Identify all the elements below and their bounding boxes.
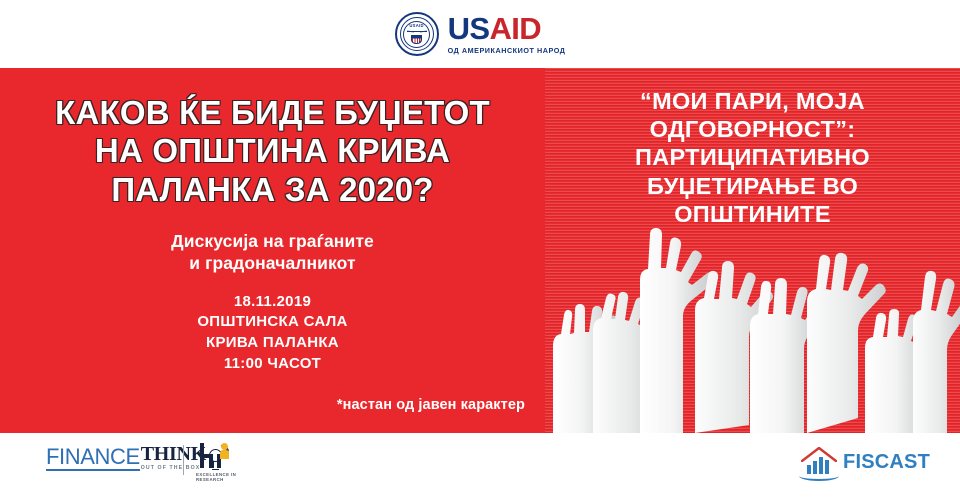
slogan-line-1: “МОИ ПАРИ, МОЈА <box>555 87 950 115</box>
headline-line-3: ПАЛАНКА ЗА 2020? <box>55 171 490 209</box>
subheadline-line-1: Дискусија на граѓаните <box>171 230 374 252</box>
campaign-slogan: “МОИ ПАРИ, МОЈА ОДГОВОРНОСТ”: ПАРТИЦИПАТ… <box>545 87 960 228</box>
event-footnote: *настан од јавен карактер <box>337 397 525 413</box>
fiscast-text: FISCAST <box>843 451 930 474</box>
swoosh-icon <box>799 471 839 481</box>
hr-mark-icon <box>196 443 258 469</box>
event-city: КРИВА ПАЛАНКА <box>197 333 347 354</box>
usaid-logo: USAID USAID ОД АМЕРИКАНСКИОТ НАРОД <box>395 12 566 56</box>
event-venue: ОПШТИНСКА САЛА <box>197 312 347 333</box>
headline-line-1: КАКОВ ЌЕ БИДЕ БУЏЕТОТ <box>55 94 490 132</box>
usaid-seal-icon: USAID <box>395 12 439 56</box>
usaid-us-text: US <box>448 11 490 46</box>
seal-wordmark: USAID <box>409 24 424 28</box>
slogan-line-2: ОДГОВОРНОСТ”: <box>555 115 950 143</box>
poster-footer: FINANCE THINK OUT OF THE BOX <box>0 433 960 499</box>
poster-headline: КАКОВ ЌЕ БИДЕ БУЏЕТОТ НА ОПШТИНА КРИВА П… <box>43 94 502 209</box>
shield-icon <box>411 35 422 44</box>
hr-logo: EXCELLENCE IN RESEARCH <box>196 443 258 482</box>
right-panel: “МОИ ПАРИ, МОЈА ОДГОВОРНОСТ”: ПАРТИЦИПАТ… <box>545 68 960 433</box>
left-content: КАКОВ ЌЕ БИДЕ БУЏЕТОТ НА ОПШТИНА КРИВА П… <box>0 68 545 433</box>
usaid-word: USAID <box>448 13 566 44</box>
poster-header: USAID USAID ОД АМЕРИКАНСКИОТ НАРОД <box>0 0 960 68</box>
event-date: 18.11.2019 <box>197 292 347 313</box>
raised-hands-illustration <box>545 218 960 433</box>
slogan-line-5: ОПШТИНИТЕ <box>555 200 950 228</box>
left-panel: КАКОВ ЌЕ БИДЕ БУЏЕТОТ НА ОПШТИНА КРИВА П… <box>0 68 545 433</box>
event-details: 18.11.2019 ОПШТИНСКА САЛА КРИВА ПАЛАНКА … <box>197 292 347 375</box>
finance-text: FINANCE <box>46 445 140 471</box>
poster-subheadline: Дискусија на граѓаните и градоначалникот <box>171 230 374 275</box>
eagle-icon <box>407 30 427 34</box>
slogan-line-3: ПАРТИЦИПАТИВНО <box>555 143 950 171</box>
logo-divider <box>183 445 184 475</box>
usaid-aid-text: AID <box>489 11 541 46</box>
slogan-line-4: БУЏЕТИРАЊЕ ВО <box>555 172 950 200</box>
subheadline-line-2: и градоначалникот <box>171 252 374 274</box>
poster-canvas: USAID USAID ОД АМЕРИКАНСКИОТ НАРОД “МОИ … <box>0 0 960 499</box>
headline-line-2: НА ОПШТИНА КРИВА <box>55 132 490 170</box>
finance-think-tagline: OUT OF THE BOX <box>141 465 201 471</box>
fiscast-mark-icon <box>796 446 840 478</box>
seal-inner: USAID <box>403 21 430 48</box>
hr-tagline: EXCELLENCE IN RESEARCH <box>196 472 258 482</box>
usaid-wordmark: USAID ОД АМЕРИКАНСКИОТ НАРОД <box>448 13 566 54</box>
event-time: 11:00 ЧАСОТ <box>197 354 347 375</box>
usaid-tagline: ОД АМЕРИКАНСКИОТ НАРОД <box>448 47 566 54</box>
main-band: “МОИ ПАРИ, МОЈА ОДГОВОРНОСТ”: ПАРТИЦИПАТ… <box>0 68 960 433</box>
fiscast-logo: FISCAST <box>796 446 930 478</box>
